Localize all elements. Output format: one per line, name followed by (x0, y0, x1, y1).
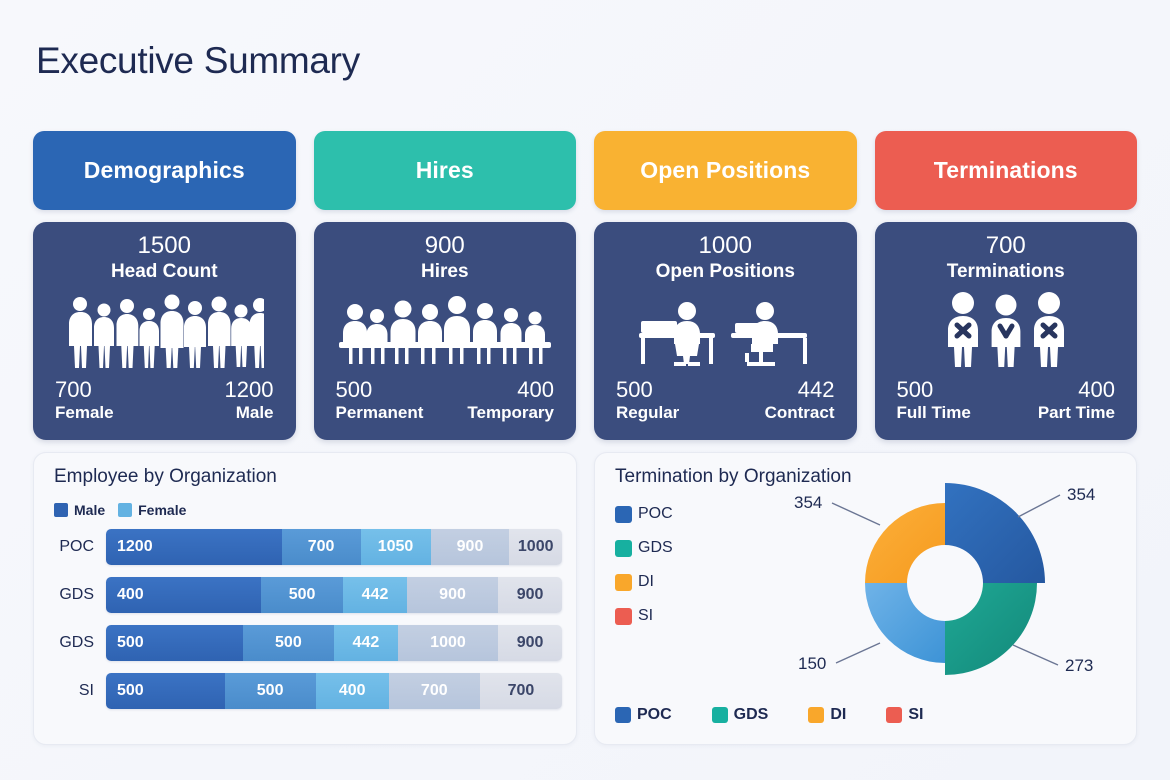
bar-segment[interactable]: 442 (334, 625, 398, 661)
kpi-footer-label: Contract (765, 403, 835, 423)
legend-item-poc[interactable]: POC (615, 505, 673, 523)
kpi-footer-left: 500 Permanent (336, 377, 424, 423)
donut-label-poc: 354 (1067, 485, 1095, 504)
tab-open-positions[interactable]: Open Positions (594, 131, 857, 210)
kpi-footer: 500 Regular 442 Contract (594, 377, 857, 423)
kpi-value: 1500 (138, 233, 191, 260)
kpi-footer-value: 500 (616, 377, 679, 403)
category-tab-row: Demographics Hires Open Positions Termin… (33, 131, 1137, 210)
crowd-of-people-icon (33, 288, 296, 372)
kpi-footer-right: 400 Temporary (467, 377, 554, 423)
termination-by-organization-panel: Termination by Organization POC GDS DI S… (594, 452, 1137, 745)
legend-label: SI (638, 607, 653, 625)
legend-item-poc-bottom[interactable]: POC (615, 706, 672, 724)
bar-segment[interactable]: 700 (282, 529, 361, 565)
kpi-footer-value: 400 (467, 377, 554, 403)
legend-label: Male (74, 502, 105, 518)
kpi-footer-value: 442 (765, 377, 835, 403)
legend-swatch (118, 503, 132, 517)
kpi-footer-label: Full Time (897, 403, 971, 423)
bar-row-label: SI (48, 682, 106, 700)
desk-workers-icon (594, 288, 857, 372)
kpi-label: Head Count (111, 261, 218, 284)
donut-label-di: 354 (794, 493, 822, 512)
kpi-footer-right: 1200 Male (225, 377, 274, 423)
kpi-label: Hires (421, 261, 469, 284)
bar-row: SI500500400700700 (48, 673, 562, 709)
legend-item-gds[interactable]: GDS (615, 539, 673, 557)
tab-demographics[interactable]: Demographics (33, 131, 296, 210)
kpi-label: Open Positions (656, 261, 795, 284)
bar-track: 500500400700700 (106, 673, 562, 709)
bar-segment[interactable]: 500 (261, 577, 343, 613)
kpi-label: Terminations (947, 261, 1065, 284)
bar-segment[interactable]: 900 (407, 577, 498, 613)
kpi-footer-value: 700 (55, 377, 114, 403)
meeting-table-icon (314, 288, 577, 372)
donut-slice-gds (945, 583, 1037, 675)
kpi-card-open-positions[interactable]: 1000 Open Positions (594, 222, 857, 440)
donut-chart[interactable]: 354 273 150 354 (770, 473, 1125, 688)
kpi-footer-value: 1200 (225, 377, 274, 403)
donut-label-gds: 273 (1065, 656, 1093, 675)
legend-label: Female (138, 502, 186, 518)
legend-swatch (615, 707, 631, 723)
bar-segment[interactable]: 400 (316, 673, 389, 709)
legend-label: DI (638, 573, 654, 591)
bar-segment[interactable]: 900 (431, 529, 510, 565)
kpi-footer-right: 400 Part Time (1038, 377, 1115, 423)
bar-row: POC120070010509001000 (48, 529, 562, 565)
kpi-value: 1000 (699, 233, 752, 260)
bar-segment[interactable]: 900 (498, 625, 562, 661)
legend-swatch (615, 608, 632, 625)
bar-chart-legend: Male Female (54, 502, 186, 518)
people-with-x-marks-icon (875, 288, 1138, 372)
kpi-footer: 500 Full Time 400 Part Time (875, 377, 1138, 423)
legend-item-si[interactable]: SI (615, 607, 673, 625)
donut-slice-di (865, 503, 945, 583)
legend-swatch (615, 506, 632, 523)
bar-segment[interactable]: 1050 (361, 529, 431, 565)
bar-row-label: GDS (48, 634, 106, 652)
kpi-value: 900 (425, 233, 465, 260)
page-title: Executive Summary (36, 40, 360, 82)
kpi-footer-left: 700 Female (55, 377, 114, 423)
kpi-footer-right: 442 Contract (765, 377, 835, 423)
tab-terminations[interactable]: Terminations (875, 131, 1138, 210)
stacked-bar-list: POC120070010509001000GDS400500442900900G… (48, 529, 562, 709)
kpi-footer-left: 500 Regular (616, 377, 679, 423)
kpi-footer: 700 Female 1200 Male (33, 377, 296, 423)
donut-bottom-legend: POC GDS DI SI (615, 706, 923, 724)
legend-label: POC (638, 505, 673, 523)
bar-segment[interactable]: 700 (480, 673, 562, 709)
bar-segment[interactable]: 1200 (106, 529, 282, 565)
bar-segment[interactable]: 500 (225, 673, 316, 709)
kpi-footer-left: 500 Full Time (897, 377, 971, 423)
tab-label: Demographics (84, 157, 245, 184)
legend-label: SI (908, 706, 923, 724)
kpi-value: 700 (986, 233, 1026, 260)
panel-title: Employee by Organization (54, 466, 277, 488)
legend-swatch (886, 707, 902, 723)
legend-swatch (54, 503, 68, 517)
tab-hires[interactable]: Hires (314, 131, 577, 210)
kpi-footer-label: Part Time (1038, 403, 1115, 423)
bar-segment[interactable]: 1000 (509, 529, 562, 565)
bar-row: GDS400500442900900 (48, 577, 562, 613)
bar-track: 400500442900900 (106, 577, 562, 613)
bar-segment[interactable]: 1000 (398, 625, 498, 661)
kpi-footer-label: Regular (616, 403, 679, 423)
bar-segment[interactable]: 500 (106, 673, 225, 709)
dashboard-page: Executive Summary Demographics Hires Ope… (0, 0, 1170, 780)
bar-track: 120070010509001000 (106, 529, 562, 565)
kpi-footer-label: Temporary (467, 403, 554, 423)
tab-label: Terminations (934, 157, 1078, 184)
kpi-card-hires[interactable]: 900 Hires (314, 222, 577, 440)
legend-swatch (808, 707, 824, 723)
bar-segment[interactable]: 500 (243, 625, 334, 661)
bar-row-label: POC (48, 538, 106, 556)
donut-label-si: 150 (798, 654, 826, 673)
donut-side-legend: POC GDS DI SI (615, 505, 673, 625)
legend-label: GDS (734, 706, 769, 724)
bar-segment[interactable]: 442 (343, 577, 407, 613)
legend-swatch (712, 707, 728, 723)
kpi-card-row: 1500 Head Count (33, 222, 1137, 440)
employee-by-organization-panel: Employee by Organization Male Female POC… (33, 452, 577, 745)
kpi-footer-label: Female (55, 403, 114, 423)
legend-label: POC (637, 706, 672, 724)
legend-item-di[interactable]: DI (615, 573, 673, 591)
kpi-footer-value: 500 (897, 377, 971, 403)
legend-item-di-bottom[interactable]: DI (808, 706, 846, 724)
legend-swatch (615, 574, 632, 591)
legend-label: GDS (638, 539, 673, 557)
bar-segment[interactable]: 500 (106, 625, 243, 661)
kpi-footer-value: 400 (1038, 377, 1115, 403)
bar-row: GDS5005004421000900 (48, 625, 562, 661)
kpi-footer-label: Permanent (336, 403, 424, 423)
legend-item-female[interactable]: Female (118, 502, 186, 518)
kpi-footer-value: 500 (336, 377, 424, 403)
bar-track: 5005004421000900 (106, 625, 562, 661)
kpi-footer-label: Male (225, 403, 274, 423)
bar-segment[interactable]: 900 (498, 577, 562, 613)
bar-segment[interactable]: 700 (389, 673, 480, 709)
legend-item-si-bottom[interactable]: SI (886, 706, 923, 724)
legend-label: DI (830, 706, 846, 724)
legend-swatch (615, 540, 632, 557)
kpi-footer: 500 Permanent 400 Temporary (314, 377, 577, 423)
kpi-card-head-count[interactable]: 1500 Head Count (33, 222, 296, 440)
tab-label: Open Positions (640, 157, 810, 184)
legend-item-male[interactable]: Male (54, 502, 105, 518)
tab-label: Hires (416, 157, 474, 184)
bar-row-label: GDS (48, 586, 106, 604)
donut-slice-si (865, 583, 945, 663)
kpi-card-terminations[interactable]: 700 Terminations (875, 222, 1138, 440)
legend-item-gds-bottom[interactable]: GDS (712, 706, 769, 724)
bar-segment[interactable]: 400 (106, 577, 261, 613)
donut-slice-poc (945, 483, 1045, 583)
